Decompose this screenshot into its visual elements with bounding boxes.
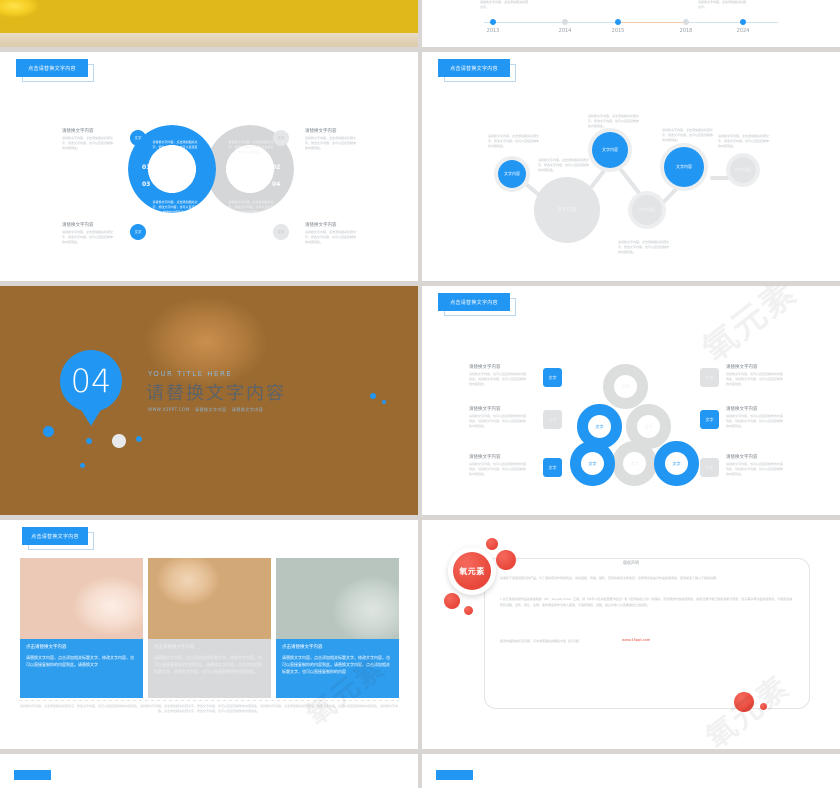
card-title: 点击请替换文字内容 (154, 644, 265, 650)
card-title: 点击请替换文字内容 (282, 644, 393, 650)
timeline-axis-highlight (618, 22, 684, 23)
item-body: 请替换文字内容，也可以直接复制你的内容到此。请替换文字内容，也可以直接复制你的内… (726, 372, 784, 387)
slide-thumbnail-double-donut[interactable]: 点击请替换文字内容 01 03 02 04 请替换文字内容，点击添加相关文字，修… (0, 52, 418, 281)
donut-badge[interactable]: 文字 (130, 130, 146, 146)
donut-side-block: 请替换文字内容 请替换文字内容，点击添加相关标题文字，修改文字内容，也可以直接复… (305, 222, 357, 244)
timeline-year-label: 2014 (559, 28, 572, 34)
pyramid-ring-blue[interactable]: 文字 (570, 441, 615, 486)
donut-number: 03 (142, 181, 150, 188)
timeline-dot[interactable] (683, 19, 689, 25)
slide-thumbnail-circle-pyramid[interactable]: 氧元素 点击请替换文字内容 文字 文字 文字 文字 文字 文字 (422, 286, 840, 515)
decorative-dot (112, 434, 126, 448)
ring-label: 文字 (581, 452, 604, 475)
item-body: 请替换文字内容，也可以直接复制你的内容到此。请替换文字内容，也可以直接复制你的内… (469, 462, 527, 477)
card-text: 请替换文字内容，点击添加相关标题文字，修改文字内容，也可以直接复制你的内容到此。… (26, 654, 137, 668)
timeline-dot[interactable] (740, 19, 746, 25)
timeline-dot[interactable] (615, 19, 621, 25)
ring-label: 文字 (588, 415, 611, 438)
pyramid-item: 请替换文字内容 请替换文字内容，也可以直接复制你的内容到此。请替换文字内容，也可… (726, 454, 784, 477)
donut-badge[interactable]: 文字 (130, 224, 146, 240)
slide-thumbnail-section-divider[interactable]: 04 YOUR TITLE HERE 请替换文字内容 WWW.45PPT.COM… (0, 286, 418, 515)
block-title: 请替换文字内容 (62, 222, 114, 228)
donut-number: 04 (272, 181, 280, 188)
node-circle-blue[interactable]: 文字内容 (592, 132, 628, 168)
fruit-photo-image (0, 0, 418, 47)
decorative-red-dot (760, 703, 767, 710)
ring-label: 文字 (637, 415, 660, 438)
node-circle-gray[interactable]: 文字内容 (632, 195, 662, 225)
item-badge[interactable]: 文字 (543, 458, 562, 477)
donut-inner-text: 请替换文字内容，点击添加相关文字，修改文字内容，也可以直接复制你的内容到此。 (228, 200, 274, 214)
node-caption: 请替换文字内容，点击添加相关标题文字，修改文字内容，也可以直接复制你的内容到此。 (718, 134, 770, 148)
item-body: 请替换文字内容，也可以直接复制你的内容到此。请替换文字内容，也可以直接复制你的内… (469, 372, 527, 387)
node-circle-gray-large[interactable]: 文字内容 (534, 177, 600, 243)
item-badge[interactable]: 文字 (700, 410, 719, 429)
decorative-dot (136, 436, 142, 442)
section-number: 04 (60, 350, 122, 412)
card-image (148, 558, 271, 639)
copyright-title: 版权声明 (422, 560, 840, 566)
donut-side-block: 请替换文字内容 请替换文字内容，点击添加相关标题文字，修改文字内容，也可以直接复… (305, 128, 357, 150)
pyramid-item: 请替换文字内容 请替换文字内容，也可以直接复制你的内容到此。请替换文字内容，也可… (726, 406, 784, 429)
decorative-red-dot (734, 692, 754, 712)
timeline-caption: 请替换文字内容，点击添加相关标题文字。 (480, 0, 528, 9)
logo-text: 氧元素 (453, 552, 491, 590)
slide-thumbnail-node-network[interactable]: 点击请替换文字内容 文字内容 文字内容 文字内容 文字内容 文字内容 文字内容 … (422, 52, 840, 281)
brand-logo[interactable]: 氧元素 (448, 547, 496, 595)
donut-number: 01 (142, 164, 150, 171)
slide-tag-label[interactable] (14, 770, 51, 780)
timeline-dot[interactable] (562, 19, 568, 25)
ring-label: 文字 (623, 452, 646, 475)
node-caption: 请替换文字内容，点击添加相关标题文字，修改文字内容，也可以直接复制你的内容到此。 (662, 128, 714, 142)
block-body: 请替换文字内容，点击添加相关标题文字，修改文字内容，也可以直接复制你的内容到此。 (62, 136, 114, 150)
donut-inner-text: 请替换文字内容，点击添加相关文字，修改文字内容，也可以直接复制你的内容到此。 (152, 140, 198, 154)
card-image (276, 558, 399, 639)
item-title: 请替换文字内容 (726, 406, 784, 412)
timeline-year-label: 2018 (680, 28, 693, 34)
donut-badge[interactable]: 文字 (273, 130, 289, 146)
card-body: 点击请替换文字内容 请替换文字内容，点击添加相关标题文字，修改文字内容，也可以直… (20, 639, 143, 698)
node-circle-gray[interactable]: 文字内容 (730, 157, 756, 183)
photo-card[interactable]: 点击请替换文字内容 请替换文字内容，点击添加相关标题文字，修改文字内容，也可以直… (276, 558, 399, 698)
footer-text: 请替换文字内容，点击添加相关标题文字，修改文字内容，也可以直接复制你的内容到此。… (19, 704, 399, 715)
footer-divider (19, 700, 399, 701)
pyramid-item: 请替换文字内容 请替换文字内容，也可以直接复制你的内容到此。请替换文字内容，也可… (469, 406, 527, 429)
timeline-year-label: 2015 (612, 28, 625, 34)
item-title: 请替换文字内容 (469, 406, 527, 412)
donut-side-block: 请替换文字内容 请替换文字内容，点击添加相关标题文字，修改文字内容，也可以直接复… (62, 222, 114, 244)
ring-label: 文字 (614, 375, 637, 398)
ring-label: 文字 (665, 452, 688, 475)
photo-card[interactable]: 点击请替换文字内容 请替换文字内容，点击添加相关标题文字，修改文字内容，也可以直… (148, 558, 271, 698)
slide-thumbnail-timeline[interactable]: 请替换文字内容，点击添加相关标题文字。 请替换文字内容，点击添加相关标题文字。 … (422, 0, 840, 47)
section-url: WWW.45PPT.COM · 请替换文字内容 · 请替换文字内容 (148, 407, 263, 413)
copyright-paragraph: 1.氧元素提供的作品是免版税的（RF，Royalty-Free）正版，受《中华人… (500, 596, 796, 608)
slide-thumbnail-photo-cards[interactable]: 氧元素 点击请替换文字内容 点击请替换文字内容 请替换文字内容，点击添加相关标题… (0, 520, 418, 749)
copyright-paragraph: 使用中遇到的任何问题，可寻求客服在线解答方案【点元素】 (500, 638, 640, 644)
pyramid-ring-gray[interactable]: 文字 (612, 441, 657, 486)
item-badge[interactable]: 文字 (543, 368, 562, 387)
block-body: 请替换文字内容，点击添加相关标题文字，修改文字内容，也可以直接复制你的内容到此。 (305, 230, 357, 244)
node-circle-blue[interactable]: 文字内容 (498, 160, 526, 188)
item-badge[interactable]: 文字 (543, 410, 562, 429)
photo-card[interactable]: 点击请替换文字内容 请替换文字内容，点击添加相关标题文字，修改文字内容，也可以直… (20, 558, 143, 698)
card-title: 点击请替换文字内容 (26, 644, 137, 650)
card-body: 点击请替换文字内容 请替换文字内容，点击添加相关标题文字，修改文字内容，也可以直… (276, 639, 399, 698)
slide-thumbnail-next-left[interactable] (0, 754, 418, 788)
ppt-template-preview-page: 请替换文字内容，点击添加相关标题文字。 请替换文字内容，点击添加相关标题文字。 … (0, 0, 840, 788)
donut-badge[interactable]: 文字 (273, 224, 289, 240)
block-body: 请替换文字内容，点击添加相关标题文字，修改文字内容，也可以直接复制你的内容到此。 (62, 230, 114, 244)
pyramid-ring-gray[interactable]: 文字 (603, 364, 648, 409)
timeline-dot[interactable] (490, 19, 496, 25)
item-title: 请替换文字内容 (726, 364, 784, 370)
card-text: 请替换文字内容，点击添加相关标题文字，修改文字内容，也可以直接复制你的内容到此。… (154, 654, 265, 676)
card-image (20, 558, 143, 639)
copyright-paragraph: 感谢您下载使用我们的产品。为了保护原创作者的利益，请勿盗版、传播、销售，否则将承… (500, 575, 796, 581)
copyright-url[interactable]: www.45ppt.com (622, 638, 650, 642)
item-title: 请替换文字内容 (726, 454, 784, 460)
card-text: 请替换文字内容，点击添加相关标题文字，修改文字内容，也可以直接复制你的内容到此。… (282, 654, 393, 676)
node-caption: 请替换文字内容，点击添加相关标题文字，修改文字内容，也可以直接复制你的内容到此。 (618, 240, 670, 254)
watermark: 氧元素 (690, 286, 805, 371)
donut-inner-text: 请替换文字内容，点击添加相关文字，修改文字内容，也可以直接复制你的内容到此。 (152, 200, 198, 214)
node-caption: 请替换文字内容，点击添加相关标题文字，修改文字内容，也可以直接复制你的内容到此。 (588, 114, 640, 128)
block-body: 请替换文字内容，点击添加相关标题文字，修改文字内容，也可以直接复制你的内容到此。 (305, 136, 357, 150)
node-caption: 请替换文字内容，点击添加相关标题文字，修改文字内容，也可以直接复制你的内容到此。 (538, 158, 590, 172)
node-circle-blue[interactable]: 文字内容 (664, 147, 704, 187)
item-badge[interactable]: 文字 (700, 368, 719, 387)
pyramid-item: 请替换文字内容 请替换文字内容，也可以直接复制你的内容到此。请替换文字内容，也可… (726, 364, 784, 387)
slide-tag-label[interactable]: 点击请替换文字内容 (438, 59, 510, 77)
decorative-dot (86, 438, 92, 444)
slide-thumbnail-next-right[interactable] (422, 754, 840, 788)
timeline-year-label: 2013 (487, 28, 500, 34)
block-title: 请替换文字内容 (305, 222, 357, 228)
block-title: 请替换文字内容 (305, 128, 357, 134)
slide-tag-label[interactable]: 点击请替换文字内容 (22, 527, 88, 545)
item-title: 请替换文字内容 (469, 454, 527, 460)
card-body: 点击请替换文字内容 请替换文字内容，点击添加相关标题文字，修改文字内容，也可以直… (148, 639, 271, 698)
item-body: 请替换文字内容，也可以直接复制你的内容到此。请替换文字内容，也可以直接复制你的内… (469, 414, 527, 429)
pyramid-item: 请替换文字内容 请替换文字内容，也可以直接复制你的内容到此。请替换文字内容，也可… (469, 454, 527, 477)
pyramid-ring-blue[interactable]: 文字 (654, 441, 699, 486)
slide-tag-label[interactable]: 点击请替换文字内容 (438, 293, 510, 311)
block-title: 请替换文字内容 (62, 128, 114, 134)
slide-thumbnail-copyright[interactable]: 氧元素 氧元素 版权声明 感谢您下载使用我们的产品。为了保护原创作者的利益，请勿… (422, 520, 840, 749)
decorative-dot (382, 400, 386, 404)
slide-tag-label[interactable]: 点击请替换文字内容 (16, 59, 88, 77)
timeline-year-label: 2024 (737, 28, 750, 34)
item-title: 请替换文字内容 (469, 364, 527, 370)
decorative-dot (80, 463, 85, 468)
slide-tag-label[interactable] (436, 770, 473, 780)
donut-inner-text: 请替换文字内容，点击添加相关文字，修改文字内容，也可以直接复制你的内容到此。 (228, 140, 274, 154)
slide-thumbnail-fruit[interactable] (0, 0, 418, 47)
section-title-cn: 请替换文字内容 (146, 379, 286, 405)
item-body: 请替换文字内容，也可以直接复制你的内容到此。请替换文字内容，也可以直接复制你的内… (726, 414, 784, 429)
donut-side-block: 请替换文字内容 请替换文字内容，点击添加相关标题文字，修改文字内容，也可以直接复… (62, 128, 114, 150)
decorative-red-dot (444, 593, 460, 609)
node-caption: 请替换文字内容，点击添加相关标题文字，修改文字内容，也可以直接复制你的内容到此。 (488, 134, 540, 148)
decorative-dot (43, 426, 54, 437)
pyramid-item: 请替换文字内容 请替换文字内容，也可以直接复制你的内容到此。请替换文字内容，也可… (469, 364, 527, 387)
timeline-caption: 请替换文字内容，点击添加相关标题文字。 (698, 0, 746, 9)
decorative-dot (370, 393, 376, 399)
decorative-red-dot (464, 606, 473, 615)
item-body: 请替换文字内容，也可以直接复制你的内容到此。请替换文字内容，也可以直接复制你的内… (726, 462, 784, 477)
donut-number: 02 (272, 164, 280, 171)
item-badge[interactable]: 文字 (700, 458, 719, 477)
section-title-en: YOUR TITLE HERE (148, 370, 232, 378)
